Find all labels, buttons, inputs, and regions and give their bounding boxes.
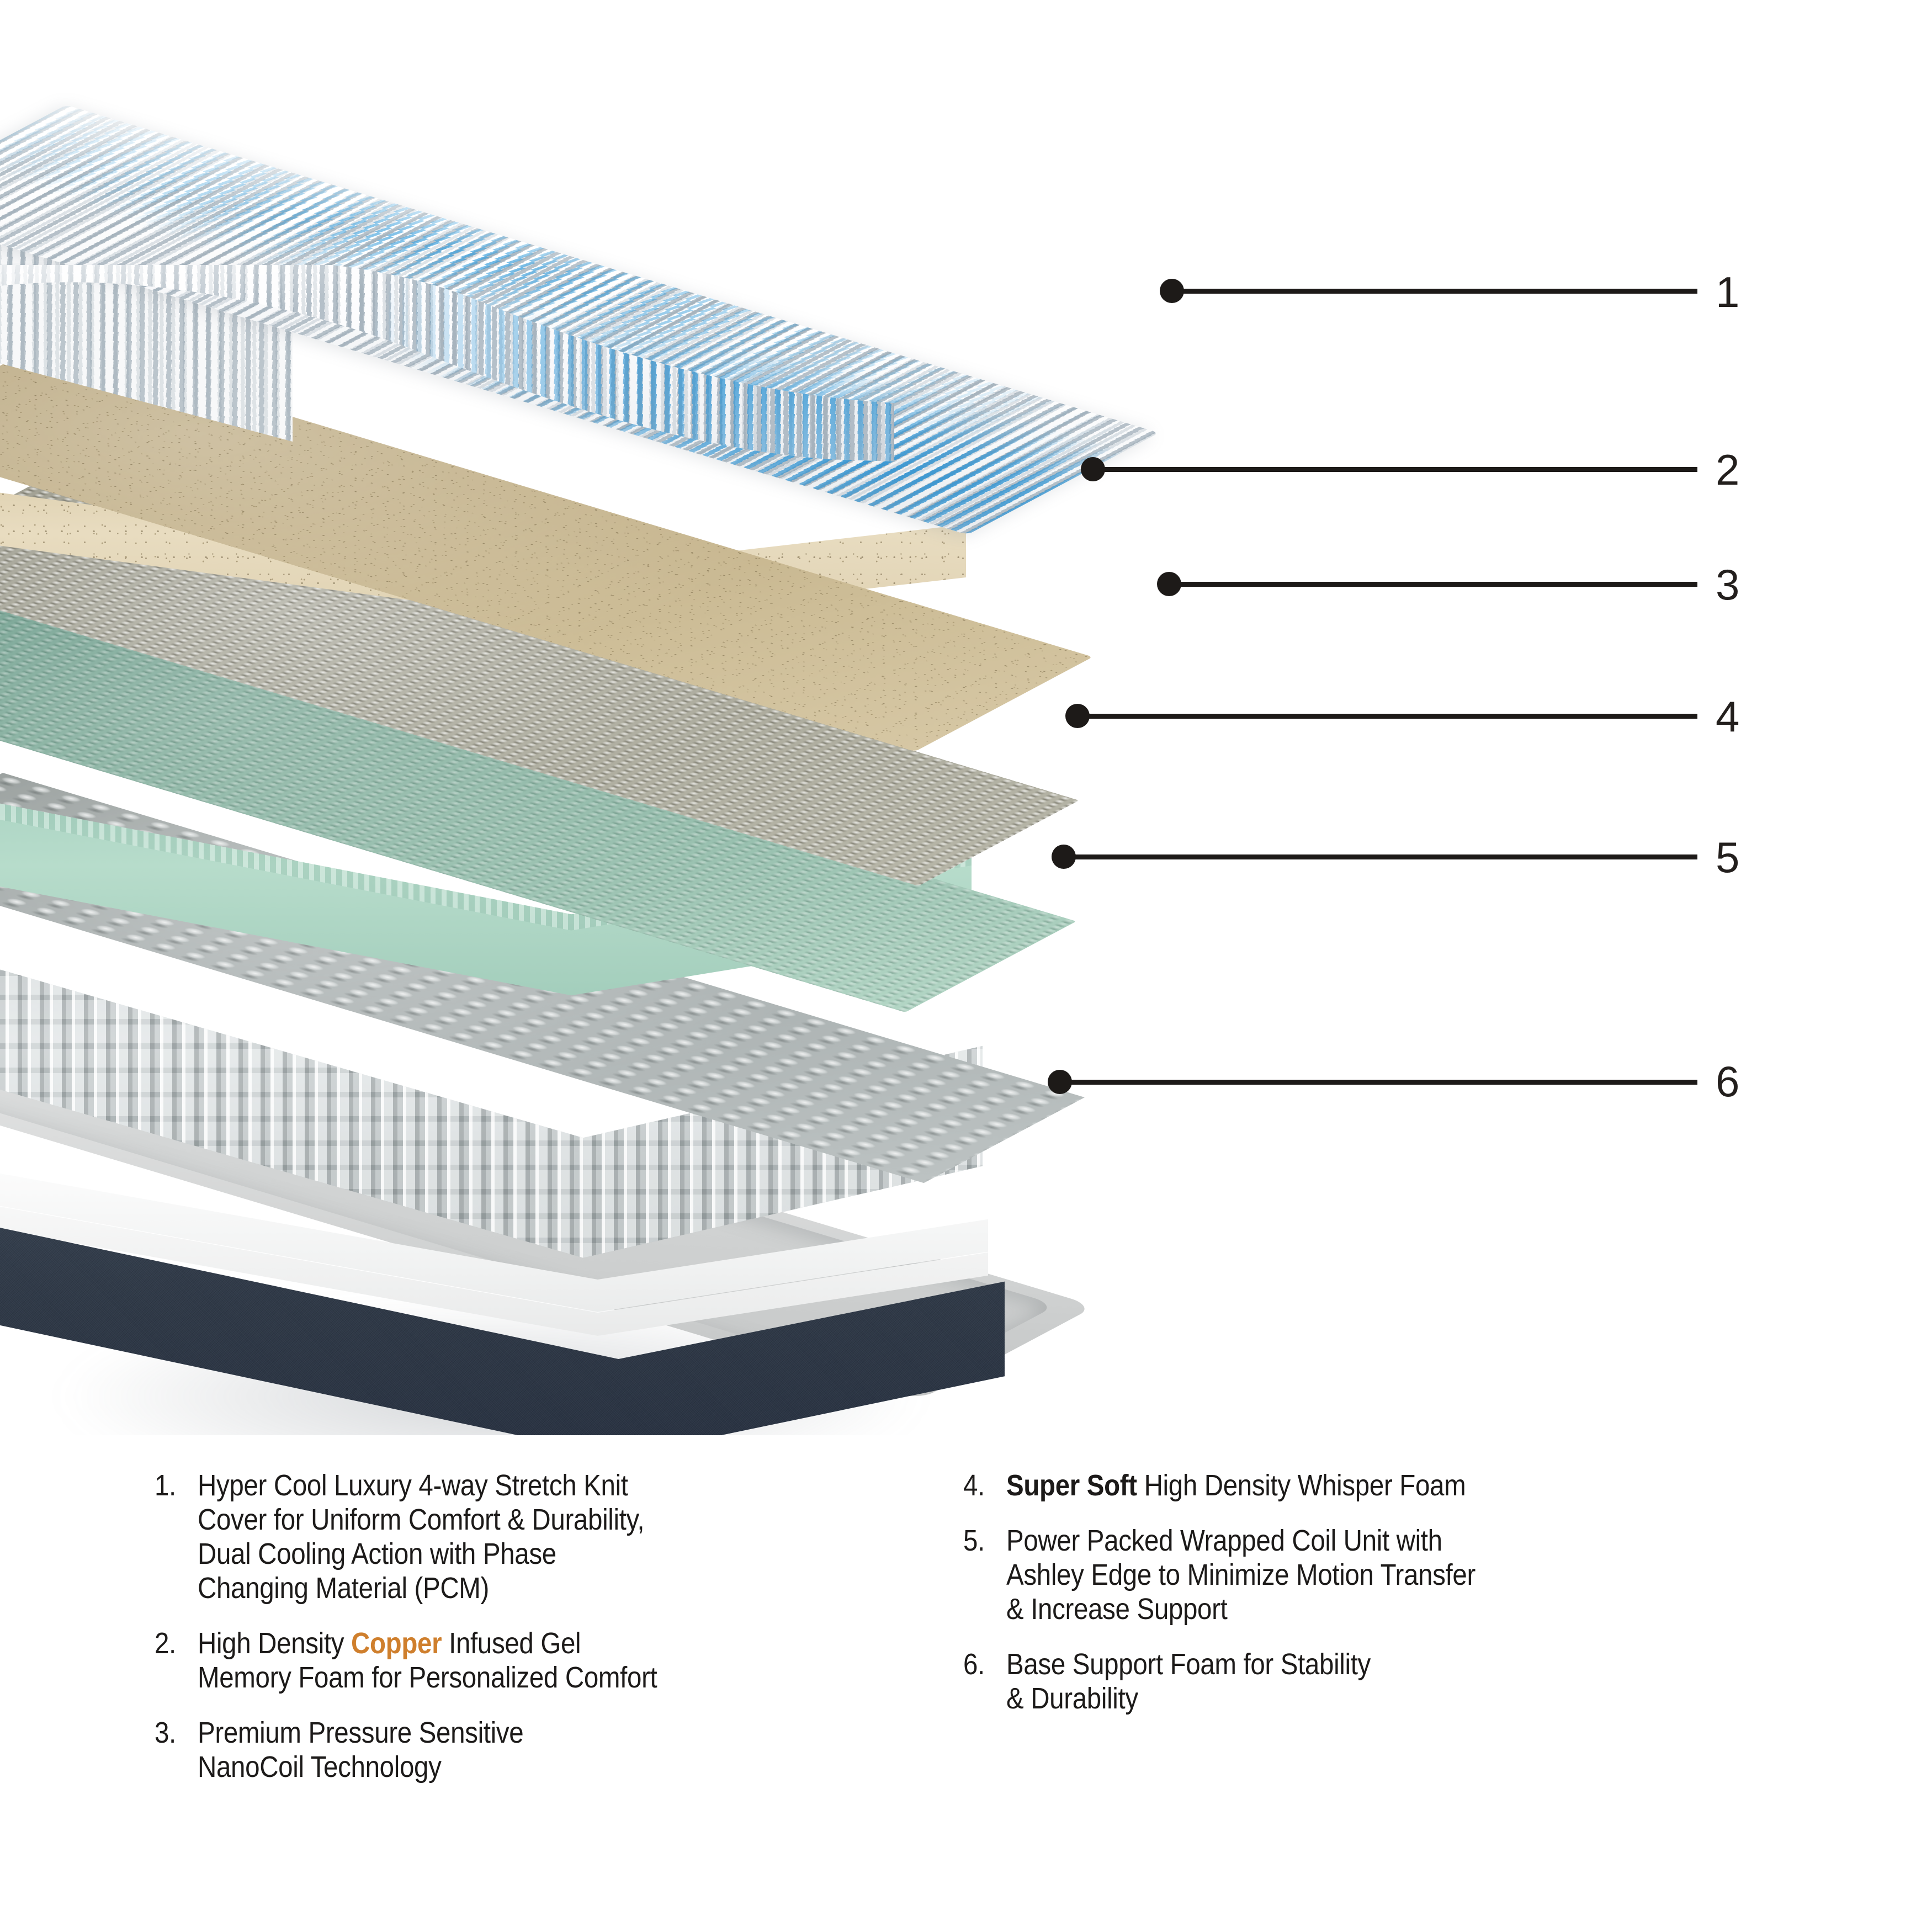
callout-line-6: [1060, 1080, 1697, 1085]
callout-line-3: [1169, 582, 1697, 587]
legend-text-1-line-2: Cover for Uniform Comfort & Durability,: [198, 1503, 840, 1537]
legend-text-1-line-3: Dual Cooling Action with Phase: [198, 1537, 840, 1571]
callout-number-3: 3: [1716, 563, 1739, 606]
legend-item-1: 1. Hyper Cool Luxury 4-way Stretch Knit …: [155, 1468, 927, 1605]
legend-text-5-line-1: Power Packed Wrapped Coil Unit with: [1006, 1524, 1697, 1558]
callout-line-5: [1064, 854, 1697, 859]
legend-text-6-line-1: Base Support Foam for Stability: [1006, 1647, 1697, 1681]
legend-number-6: 6.: [963, 1647, 994, 1681]
legend-number-3: 3.: [155, 1716, 185, 1750]
callout-line-2: [1093, 467, 1697, 472]
callout-number-5: 5: [1716, 836, 1739, 879]
legend-right-column: 4. Super Soft High Density Whisper Foam …: [963, 1468, 1791, 1716]
legend-text-3-line-2: NanoCoil Technology: [198, 1750, 840, 1784]
legend-item-5: 5. Power Packed Wrapped Coil Unit with A…: [963, 1524, 1791, 1626]
legend-number-4: 4.: [963, 1468, 994, 1503]
legend-item-2: 2. High Density Copper Infused Gel Memor…: [155, 1626, 927, 1695]
legend-text-2-post: Infused Gel: [442, 1627, 581, 1660]
legend: 1. Hyper Cool Luxury 4-way Stretch Knit …: [0, 1468, 1932, 1932]
legend-text-5-line-2: Ashley Edge to Minimize Motion Transfer: [1006, 1558, 1697, 1592]
legend-item-4: 4. Super Soft High Density Whisper Foam: [963, 1468, 1791, 1503]
legend-text-2-line-2: Memory Foam for Personalized Comfort: [198, 1660, 840, 1695]
legend-text-3-line-1: Premium Pressure Sensitive: [198, 1716, 840, 1750]
legend-number-2: 2.: [155, 1626, 185, 1660]
legend-text-5-line-3: & Increase Support: [1006, 1592, 1697, 1626]
mattress-cutaway-illustration: 1 2 3 4 5 6: [0, 0, 1932, 1435]
callout-number-4: 4: [1716, 695, 1739, 738]
callout-number-1: 1: [1716, 270, 1739, 314]
legend-text-2-line-1: High Density Copper Infused Gel: [198, 1626, 840, 1660]
legend-left-column: 1. Hyper Cool Luxury 4-way Stretch Knit …: [155, 1468, 927, 1784]
legend-text-6-line-2: & Durability: [1006, 1681, 1697, 1716]
callout-line-1: [1172, 289, 1697, 294]
legend-copper-accent: Copper: [351, 1627, 442, 1660]
legend-item-6: 6. Base Support Foam for Stability & Dur…: [963, 1647, 1791, 1716]
callout-line-4: [1078, 714, 1697, 719]
callout-number-2: 2: [1716, 448, 1739, 491]
legend-text-4-line-1: Super Soft High Density Whisper Foam: [1006, 1468, 1697, 1503]
legend-text-1-line-4: Changing Material (PCM): [198, 1571, 840, 1605]
legend-bold-super-soft: Super Soft: [1006, 1469, 1137, 1502]
legend-number-1: 1.: [155, 1468, 185, 1503]
legend-text-4-post: High Density Whisper Foam: [1137, 1469, 1466, 1502]
callout-number-6: 6: [1716, 1060, 1739, 1103]
legend-text-2-pre: High Density: [198, 1627, 351, 1660]
legend-number-5: 5.: [963, 1524, 994, 1558]
callout-group: 1 2 3 4 5 6: [0, 0, 1932, 1435]
legend-text-1-line-1: Hyper Cool Luxury 4-way Stretch Knit: [198, 1468, 840, 1503]
legend-item-3: 3. Premium Pressure Sensitive NanoCoil T…: [155, 1716, 927, 1784]
